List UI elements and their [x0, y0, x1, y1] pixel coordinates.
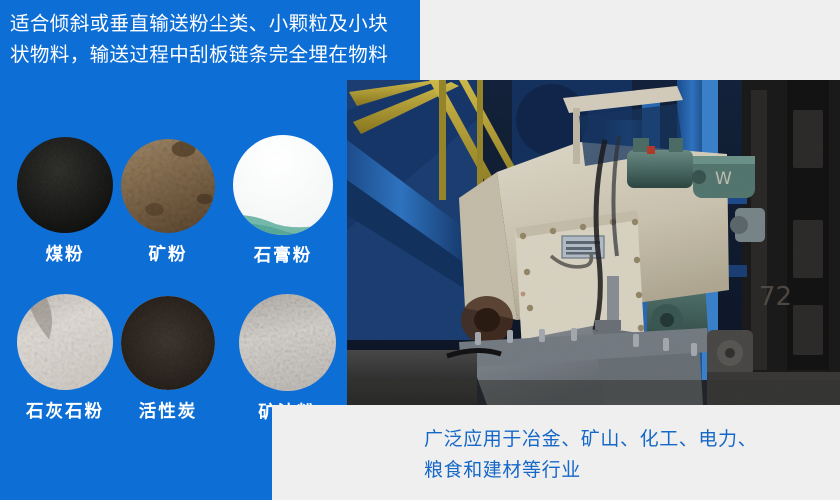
- material-item-slag: 矿渣粉: [239, 294, 336, 391]
- promo-banner: 适合倾斜或垂直输送粉尘类、小颗粒及小块 状物料，输送过程中刮板链条完全埋在物料: [0, 0, 840, 500]
- material-item-activated-carbon: 活性炭: [121, 296, 215, 390]
- material-label: 矿粉: [121, 241, 215, 266]
- material-item-gypsum: 石膏粉: [233, 135, 333, 235]
- footer-caption-text: 广泛应用于冶金、矿山、化工、电力、 粮食和建材等行业: [424, 424, 824, 486]
- ore-powder-icon: [121, 139, 215, 233]
- slag-powder-icon: [239, 294, 336, 391]
- headline-text: 适合倾斜或垂直输送粉尘类、小颗粒及小块 状物料，输送过程中刮板链条完全埋在物料: [10, 8, 420, 70]
- material-label: 石膏粉: [233, 242, 333, 267]
- gypsum-powder-icon: [233, 135, 333, 235]
- material-label: 活性炭: [121, 398, 215, 423]
- material-label: 石灰石粉: [17, 398, 113, 423]
- material-item-coal: 煤粉: [17, 137, 113, 233]
- activated-carbon-icon: [121, 296, 215, 390]
- top-right-background: [420, 0, 840, 80]
- scraper-conveyor-photo: 72: [347, 80, 840, 405]
- material-item-ore: 矿粉: [121, 139, 215, 233]
- coal-powder-icon: [17, 137, 113, 233]
- limestone-powder-icon: [17, 294, 113, 390]
- footer-caption-area: 广泛应用于冶金、矿山、化工、电力、 粮食和建材等行业: [272, 405, 840, 500]
- material-label: 煤粉: [17, 241, 113, 266]
- materials-grid: 煤粉: [0, 128, 345, 428]
- material-item-limestone: 石灰石粉: [17, 294, 113, 390]
